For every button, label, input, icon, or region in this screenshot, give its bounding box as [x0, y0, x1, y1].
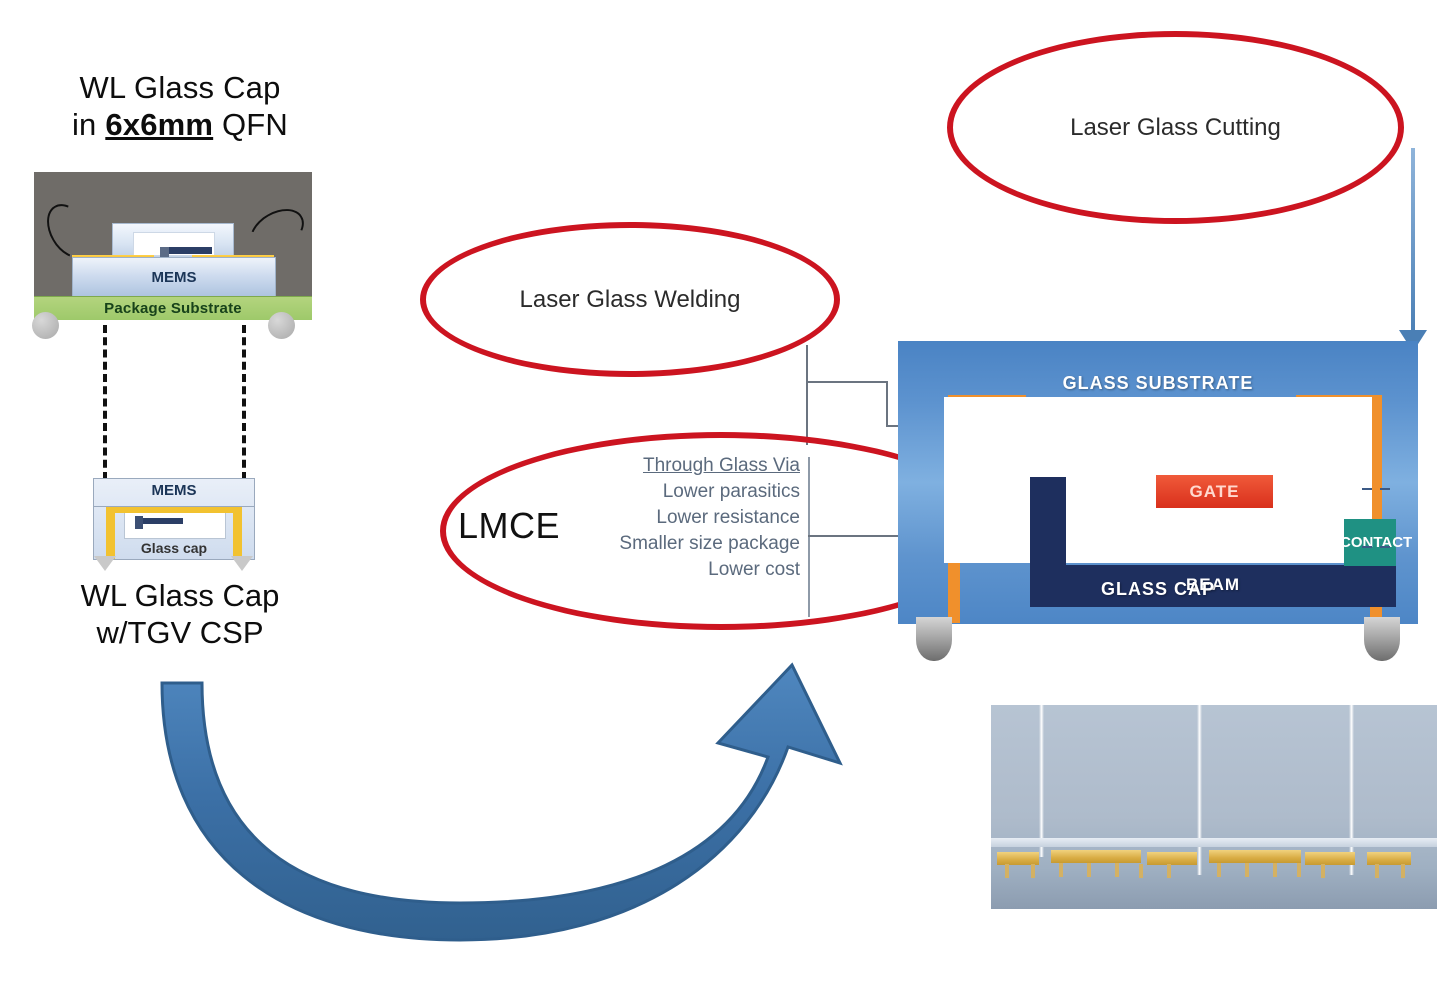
tgv-benefits-header: Through Glass Via	[560, 453, 800, 479]
mems-label: MEMS	[152, 269, 197, 286]
list-item: Lower cost	[560, 557, 800, 583]
callout-laser-glass-welding-label: Laser Glass Welding	[520, 286, 741, 314]
callout-laser-glass-cutting[interactable]: Laser Glass Cutting	[947, 31, 1404, 224]
dim-tick-d	[1380, 546, 1390, 548]
solder-ball-right	[268, 312, 295, 339]
gold-leg	[1115, 863, 1119, 877]
gold-structure-3	[1147, 852, 1197, 865]
beam-anchor-post	[1030, 477, 1066, 567]
device-cavity: GATE BEAM CONTACT	[944, 397, 1372, 563]
callout-laser-glass-cutting-label: Laser Glass Cutting	[1070, 114, 1281, 142]
gold-leg	[1059, 863, 1063, 877]
welding-leader-v2	[886, 381, 888, 427]
gold-leg	[1297, 863, 1301, 877]
package-substrate-label: Package Substrate	[104, 300, 242, 317]
gold-leg	[1375, 864, 1379, 878]
gold-structure-2	[1051, 850, 1141, 863]
gold-leg	[1245, 863, 1249, 877]
solder-ball-left	[32, 312, 59, 339]
tgv-tip-left-icon	[94, 556, 116, 571]
csp-caption-line1: WL Glass Cap	[25, 578, 335, 615]
qfn-package-diagram: MEMS Package Substrate	[34, 172, 312, 320]
list-item: Smaller size package	[560, 531, 800, 557]
laser-cut-line-3	[1349, 705, 1354, 875]
gold-structure-5	[1305, 852, 1355, 865]
gold-leg	[1005, 864, 1009, 878]
qfn-caption: WL Glass Cap in 6x6mm QFN	[30, 70, 330, 143]
gold-leg	[1167, 864, 1171, 878]
gold-leg	[1321, 864, 1325, 878]
glass-surface-edge	[991, 838, 1437, 847]
laser-cut-wafer-photo	[991, 705, 1437, 909]
solder-bump-right	[1364, 617, 1400, 661]
mems-device-cross-section: GLASS SUBSTRATE GATE BEAM CONTACT GLASS …	[898, 341, 1418, 624]
gold-leg	[1401, 864, 1405, 878]
glass-cap-die	[112, 223, 234, 259]
laser-cut-line-1	[1039, 705, 1044, 857]
dim-tick-c	[1362, 546, 1372, 548]
contact-label: CONTACT	[1340, 534, 1412, 551]
tgv-list-rule	[808, 457, 810, 617]
gold-leg	[1087, 863, 1091, 877]
welding-leader-stem	[806, 345, 808, 445]
list-item: Lower parasitics	[560, 479, 800, 505]
alignment-line-right	[242, 325, 246, 480]
qfn-caption-size: 6x6mm	[105, 107, 213, 142]
csp-package-diagram: MEMS Glass cap	[93, 478, 255, 560]
csp-glass-cap-label: Glass cap	[94, 540, 254, 556]
bond-wire-right	[242, 200, 311, 262]
laser-cut-arrow-shaft	[1411, 148, 1415, 338]
gold-structure-4	[1209, 850, 1301, 863]
lmce-label: LMCE	[458, 505, 560, 547]
gold-leg	[1273, 863, 1277, 877]
cavity	[133, 232, 215, 256]
tgv-via-left	[106, 507, 115, 559]
gold-leg	[1031, 864, 1035, 878]
welding-leader-h1	[806, 381, 888, 383]
dim-tick-b	[1380, 488, 1390, 490]
gate-label: GATE	[1190, 482, 1240, 502]
glass-substrate-label: GLASS SUBSTRATE	[898, 373, 1418, 394]
qfn-caption-line1: WL Glass Cap	[30, 70, 330, 107]
csp-caption: WL Glass Cap w/TGV CSP	[25, 578, 335, 651]
qfn-caption-line2: in 6x6mm QFN	[30, 107, 330, 144]
callout-laser-glass-welding[interactable]: Laser Glass Welding	[420, 222, 840, 377]
csp-mems-label: MEMS	[94, 482, 254, 499]
qfn-caption-prefix: in	[72, 107, 105, 142]
glass-cap-label: GLASS CAP	[898, 579, 1418, 600]
contact-electrode: CONTACT	[1344, 519, 1396, 566]
list-item: Lower resistance	[560, 505, 800, 531]
gold-leg	[1217, 863, 1221, 877]
tgv-tip-right-icon	[231, 556, 253, 571]
mems-die: MEMS	[72, 257, 276, 297]
process-flow-arrow	[140, 655, 960, 985]
gold-leg	[1139, 864, 1143, 878]
alignment-line-left	[103, 325, 107, 480]
beam-shape	[164, 247, 212, 254]
csp-cavity	[124, 509, 226, 539]
tgv-trace	[106, 507, 242, 513]
qfn-caption-suffix: QFN	[213, 107, 288, 142]
laser-cut-line-2	[1197, 705, 1202, 875]
csp-caption-line2: w/TGV CSP	[25, 615, 335, 652]
gate-electrode: GATE	[1156, 475, 1273, 508]
dim-tick-a	[1362, 488, 1372, 490]
tgv-benefits-list: Through Glass Via Lower parasitics Lower…	[560, 453, 800, 583]
csp-beam-anchor	[135, 516, 143, 529]
tgv-via-right	[233, 507, 242, 559]
csp-beam	[137, 518, 183, 524]
